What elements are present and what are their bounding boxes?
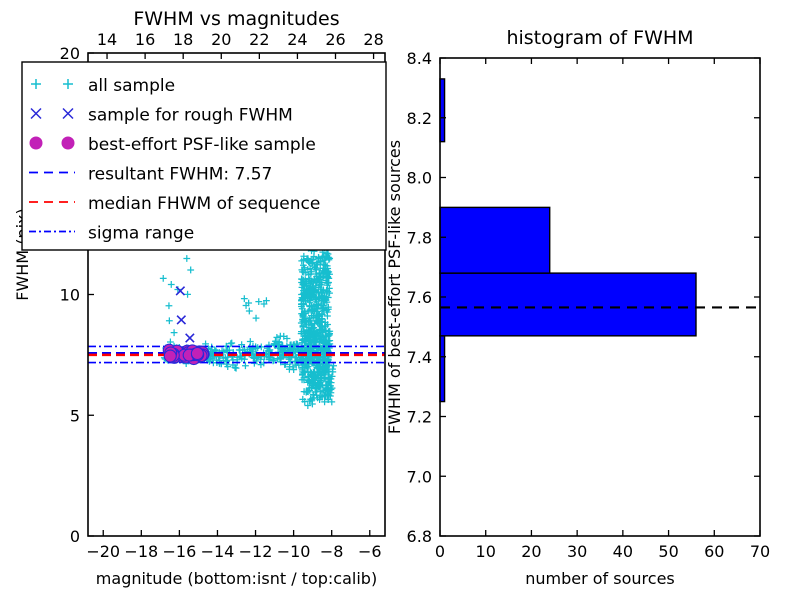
histogram-bar: [440, 207, 550, 273]
marker-plus: [187, 267, 194, 274]
x-tick-label: −6: [358, 542, 382, 561]
x-tick-label: −14: [201, 542, 235, 561]
y-tick-label: 0: [70, 527, 80, 546]
x-tick-label: 20: [521, 542, 541, 561]
marker-plus: [258, 343, 265, 350]
x-tick-label: 10: [476, 542, 496, 561]
matplotlib-figure: FWHM vs magnitudes−20−18−16−14−12−10−8−6…: [0, 0, 800, 600]
series-all-sample: [160, 227, 337, 409]
y-tick-label: 8.4: [407, 49, 432, 68]
top-x-tick-label: 22: [249, 30, 269, 49]
legend-marker-circle: [62, 137, 74, 149]
marker-plus: [233, 365, 240, 372]
legend-box: [22, 62, 386, 250]
x-tick-label: 60: [704, 542, 724, 561]
legend-label: all sample: [88, 76, 175, 96]
x-tick-label: 40: [613, 542, 633, 561]
x-tick-label: −20: [86, 542, 120, 561]
x-tick-label: −8: [320, 542, 344, 561]
histogram-bars: [440, 79, 696, 402]
marker-plus: [184, 291, 191, 298]
top-x-tick-label: 18: [173, 30, 193, 49]
right-plot-xlabel: number of sources: [525, 569, 675, 588]
left-plot-title: FWHM vs magnitudes: [133, 8, 339, 30]
y-tick-label: 8.2: [407, 109, 432, 128]
y-tick-label: 7.0: [407, 467, 432, 486]
marker-plus: [241, 295, 248, 302]
top-x-tick-label: 14: [97, 30, 117, 49]
marker-plus: [246, 308, 253, 315]
x-tick-label: 0: [435, 542, 445, 561]
left-plot-xlabel: magnitude (bottom:isnt / top:calib): [96, 569, 377, 588]
marker-dot: [191, 347, 203, 359]
y-tick-label: 7.4: [407, 348, 432, 367]
x-tick-label: 70: [750, 542, 770, 561]
y-tick-label: 10: [60, 286, 80, 305]
y-tick-label: 7.6: [407, 288, 432, 307]
top-x-tick-label: 20: [211, 30, 231, 49]
legend-label: median FHWM of sequence: [88, 194, 320, 214]
figure-canvas: FWHM vs magnitudes−20−18−16−14−12−10−8−6…: [0, 0, 800, 600]
series-psf-like: [163, 344, 209, 364]
marker-plus: [324, 288, 331, 295]
marker-plus: [183, 255, 190, 262]
y-tick-label: 20: [60, 44, 80, 63]
x-tick-label: −16: [163, 542, 197, 561]
top-x-tick-label: 16: [135, 30, 155, 49]
histogram-bar: [440, 273, 696, 336]
legend-label: sample for rough FWHM: [88, 106, 293, 126]
legend-marker-circle: [30, 137, 42, 149]
legend-label: sigma range: [88, 224, 194, 244]
left-data-layer: [88, 227, 385, 409]
x-tick-label: 30: [567, 542, 587, 561]
y-tick-label: 7.2: [407, 408, 432, 427]
marker-plus: [171, 329, 178, 336]
marker-cross: [177, 316, 185, 324]
x-tick-label: −12: [239, 542, 273, 561]
top-x-tick-label: 26: [325, 30, 345, 49]
histogram-panel: histogram of FWHM0102030405060706.87.07.…: [385, 27, 770, 588]
marker-cross: [186, 334, 194, 342]
top-x-tick-label: 24: [287, 30, 307, 49]
top-x-tick-label: 28: [363, 30, 383, 49]
x-tick-label: −10: [277, 542, 311, 561]
legend-label: best-effort PSF-like sample: [88, 135, 316, 155]
marker-plus: [266, 342, 273, 349]
marker-dot: [164, 350, 176, 362]
y-tick-label: 6.8: [407, 527, 432, 546]
legend-label: resultant FWHM: 7.57: [88, 165, 272, 185]
marker-plus: [166, 317, 173, 324]
marker-plus: [160, 275, 167, 282]
marker-plus: [168, 281, 175, 288]
y-tick-label: 8.0: [407, 169, 432, 188]
right-plot-title: histogram of FWHM: [506, 27, 693, 49]
y-tick-label: 7.8: [407, 228, 432, 247]
marker-plus: [253, 315, 260, 322]
x-tick-label: 50: [658, 542, 678, 561]
marker-plus: [166, 302, 173, 309]
x-tick-label: −18: [124, 542, 158, 561]
marker-plus: [228, 340, 235, 347]
right-plot-ylabel: FWHM of best-effort PSF-like sources: [385, 140, 404, 434]
legend: all samplesample for rough FWHMbest-effo…: [22, 62, 386, 250]
y-tick-label: 5: [70, 406, 80, 425]
